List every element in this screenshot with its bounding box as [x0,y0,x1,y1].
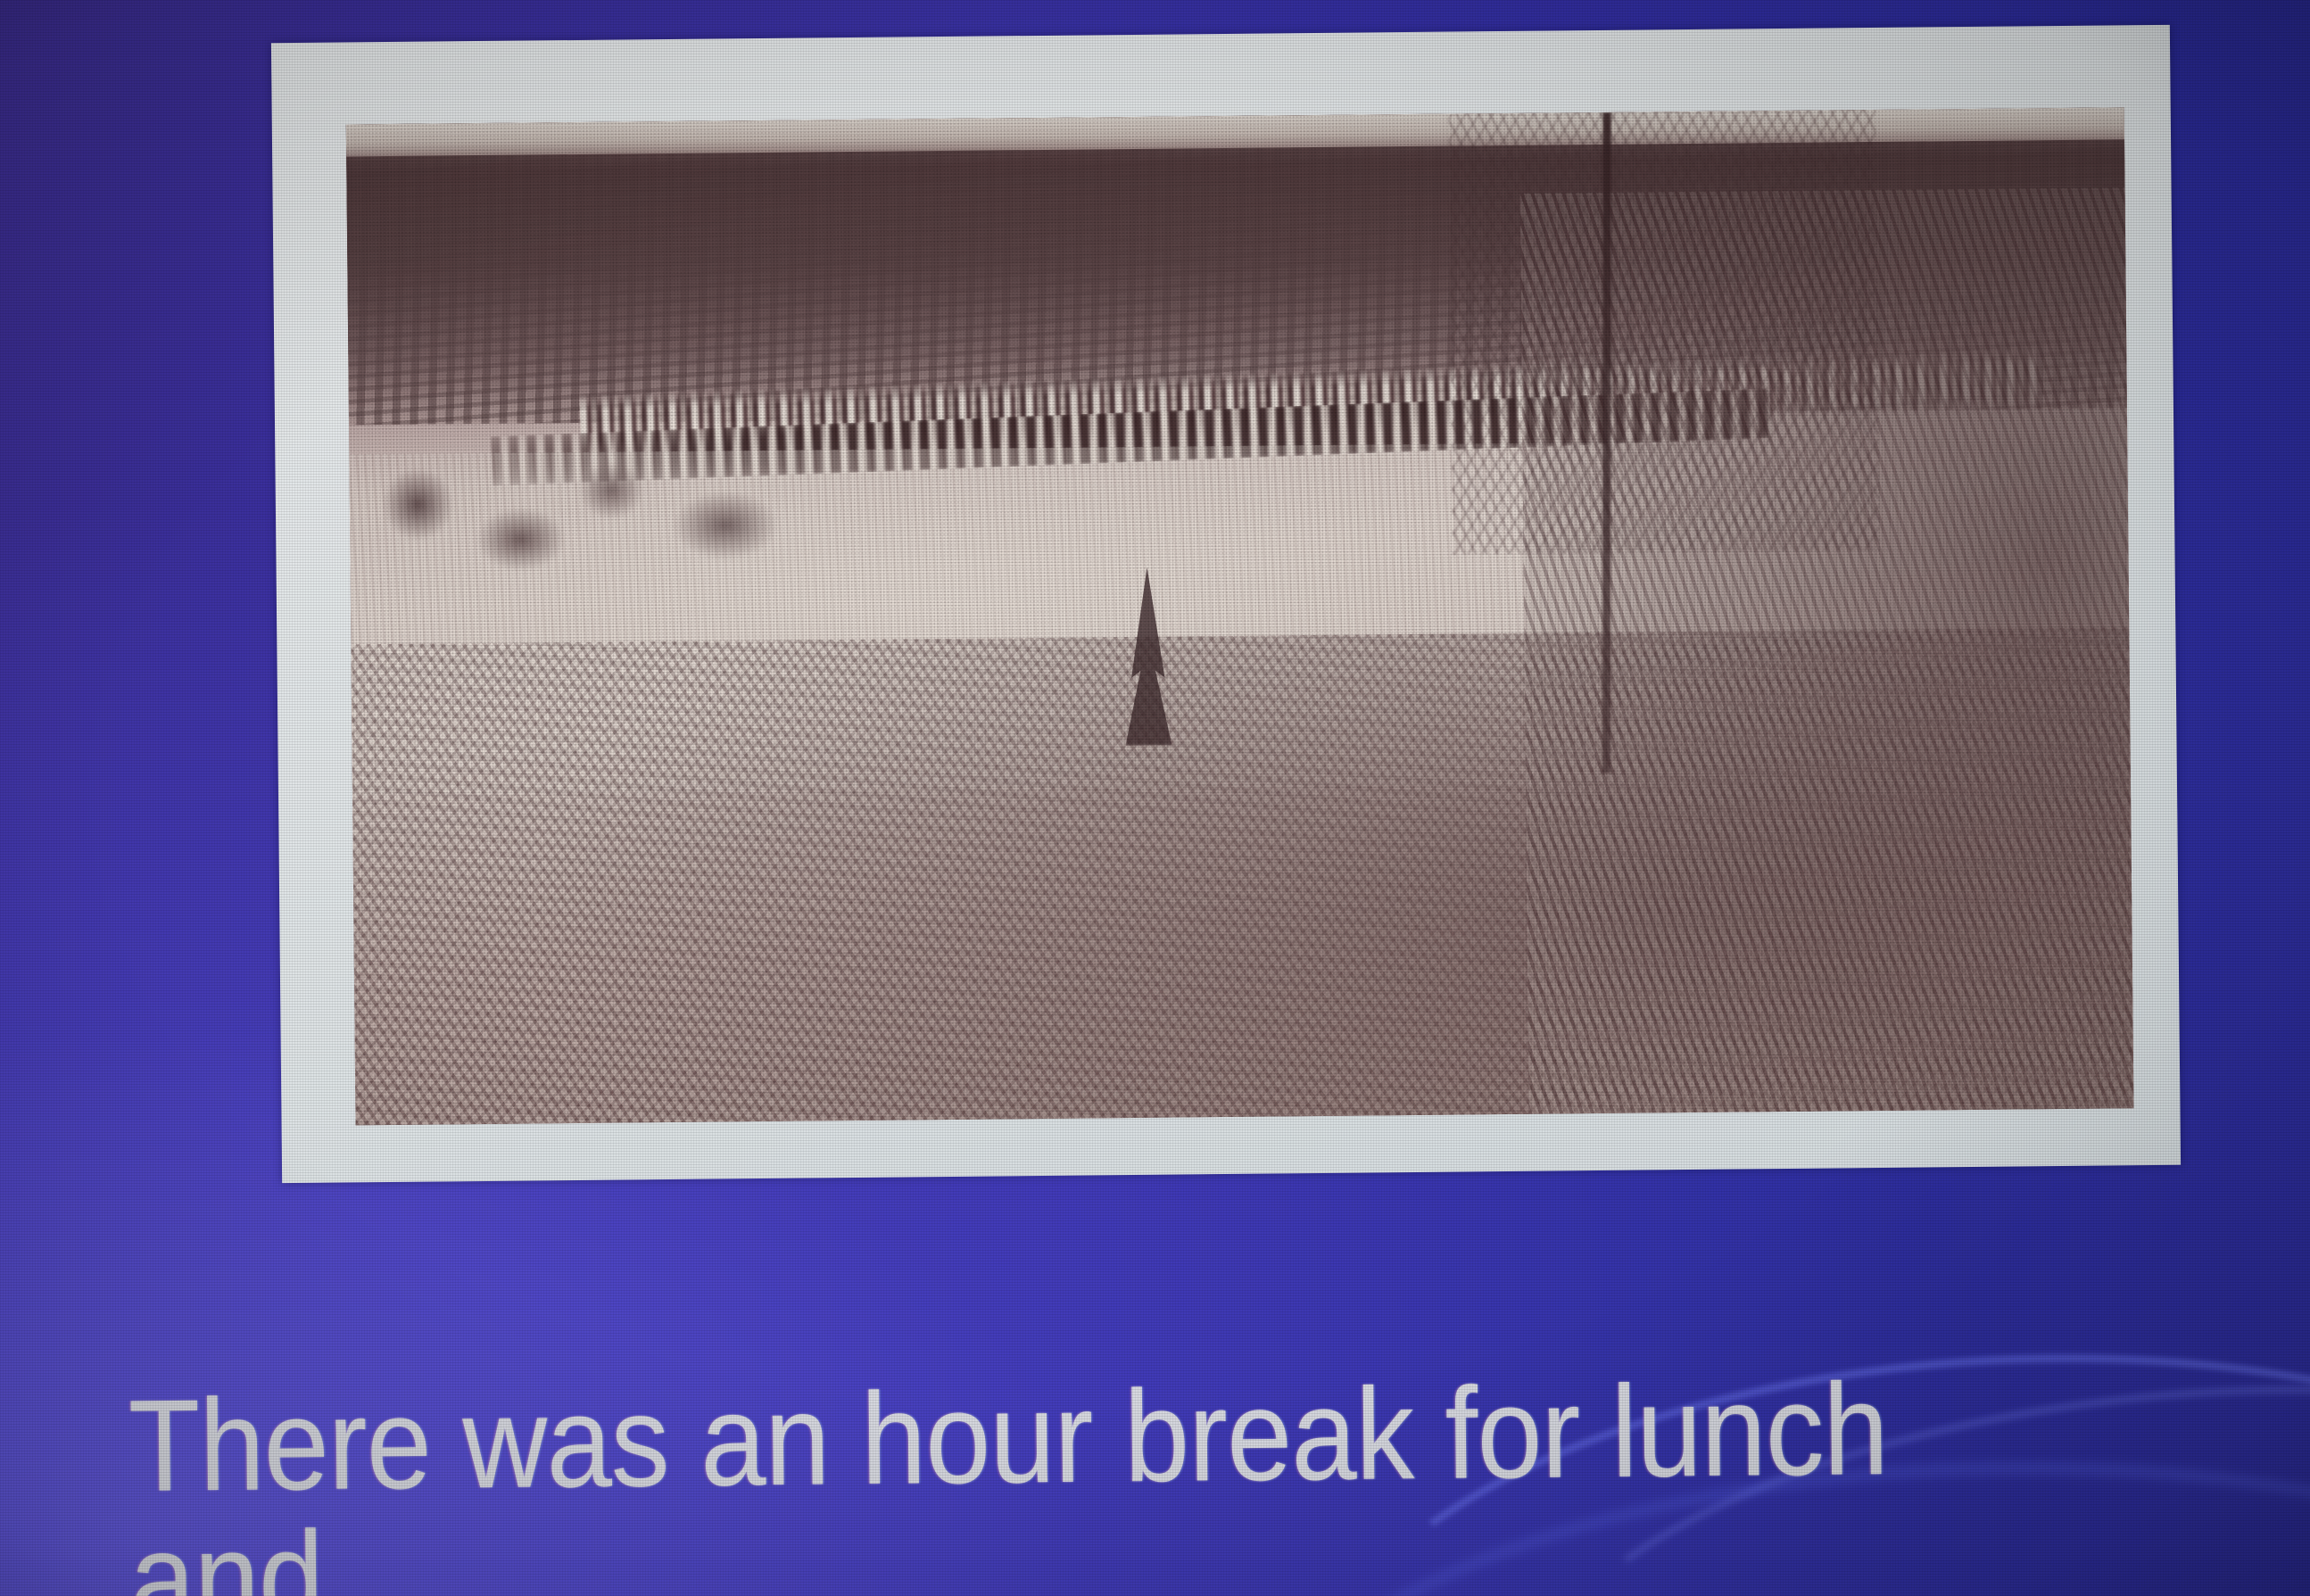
sepia-tone-overlay [346,107,2134,1125]
caption-line-1: There was an hour break for lunch and [128,1362,1945,1596]
projected-slide: There was an hour break for lunch and ci… [0,0,2310,1596]
historical-photo [346,107,2134,1125]
slide-caption: There was an hour break for lunch and ci… [127,1229,1949,1596]
photo-mount [271,25,2181,1183]
photo-artwork [346,107,2134,1125]
